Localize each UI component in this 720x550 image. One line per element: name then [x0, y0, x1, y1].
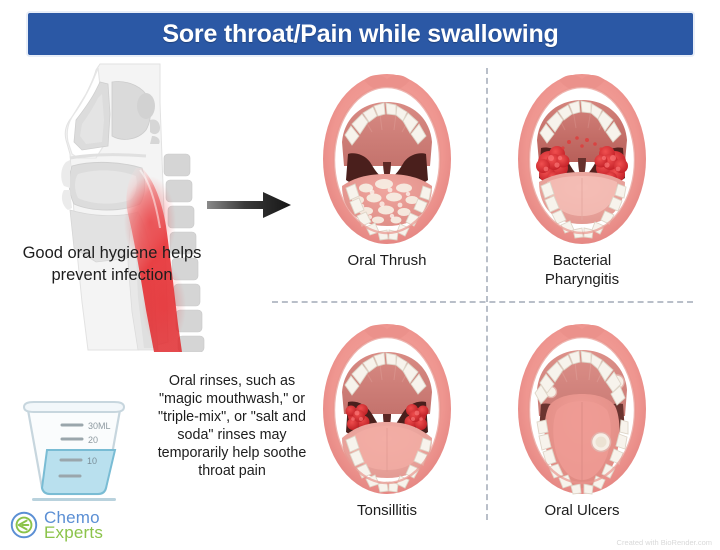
head-throat-sagittal-cross-section — [42, 62, 227, 352]
pointing-right-arrow — [205, 185, 295, 225]
chemoexperts-logo-icon — [10, 511, 38, 539]
condition-card-oral-thrush: Oral Thrush — [292, 70, 482, 271]
infographic-canvas: Sore throat/Pain while swallowing — [0, 0, 720, 550]
cup-marking-20: 20 — [88, 435, 98, 445]
logo-text-experts: Experts — [44, 524, 103, 541]
page-title-banner: Sore throat/Pain while swallowing — [28, 13, 693, 55]
chemoexperts-logo[interactable]: Chemo Experts — [10, 508, 103, 542]
condition-label-oral-thrush: Oral Thrush — [292, 252, 482, 271]
medicine-measuring-cup: 30ML 20 10 — [14, 398, 134, 502]
condition-label-tonsillitis: Tonsillitis — [292, 502, 482, 521]
ulcer-on-tongue — [592, 433, 611, 452]
condition-label-bacterial-pharyngitis: Bacterial Pharyngitis — [487, 252, 677, 290]
cup-marking-10: 10 — [87, 456, 97, 466]
horizontal-dashed-divider — [272, 301, 693, 303]
condition-card-oral-ulcers: Oral Ulcers — [487, 320, 677, 521]
page-title: Sore throat/Pain while swallowing — [162, 20, 558, 49]
cup-marking-30ml: 30ML — [88, 421, 111, 431]
chemoexperts-logo-wordmark: Chemo Experts — [44, 509, 103, 541]
hygiene-callout-text: Good oral hygiene helps prevent infectio… — [22, 243, 202, 287]
condition-card-tonsillitis: Tonsillitis — [292, 320, 482, 521]
condition-card-bacterial-pharyngitis: Bacterial Pharyngitis — [487, 70, 677, 290]
condition-label-oral-ulcers: Oral Ulcers — [487, 502, 677, 521]
biorender-credit: Created with BioRender.com — [617, 538, 712, 547]
